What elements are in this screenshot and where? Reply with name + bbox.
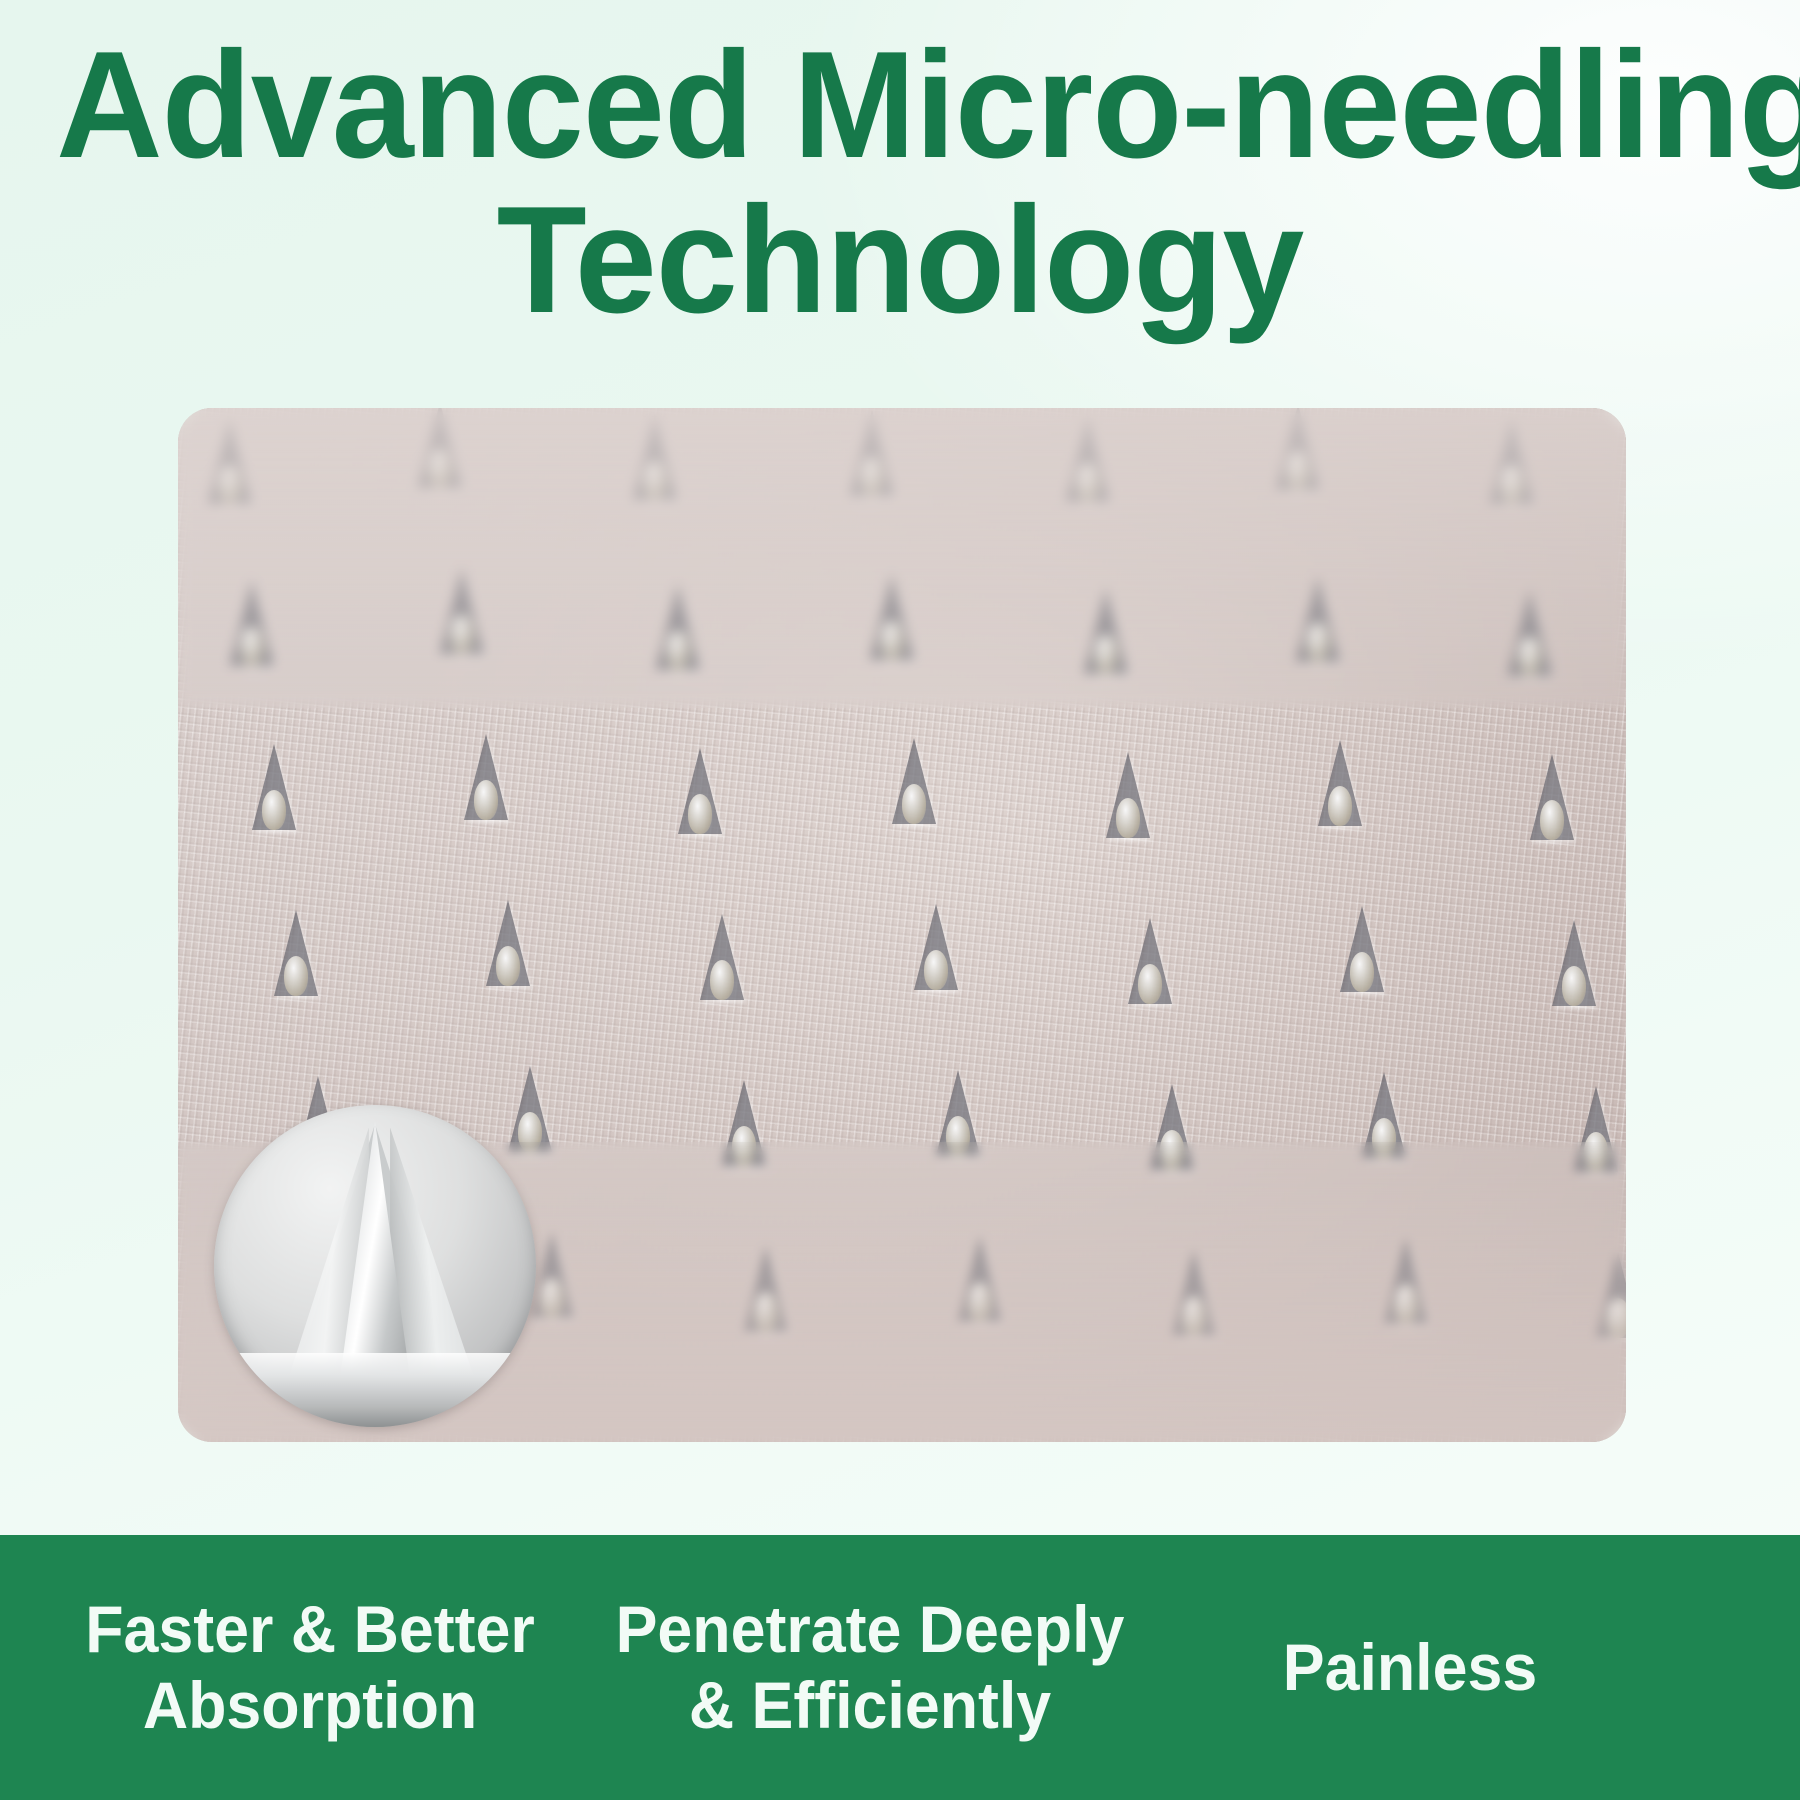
- needle-tip-closeup-inset: [214, 1105, 536, 1427]
- feature-item-painless: Painless: [1163, 1630, 1657, 1705]
- title-line-primary: Advanced Micro-needling: [56, 28, 1744, 183]
- depth-of-field-blur-top: [178, 408, 1626, 708]
- feature-item-penetration: Penetrate Deeply & Efficiently: [604, 1592, 1136, 1742]
- feature-item-absorption: Faster & Better Absorption: [44, 1592, 576, 1742]
- title-line-secondary: Technology: [56, 183, 1744, 338]
- needle-base-plate: [214, 1353, 536, 1427]
- page-title: Advanced Micro-needling Technology: [0, 28, 1800, 338]
- product-feature-poster: Advanced Micro-needling Technology: [0, 0, 1800, 1800]
- hero-image-microneedle-array: [178, 408, 1626, 1442]
- feature-bar: Faster & Better Absorption Penetrate Dee…: [0, 1535, 1800, 1800]
